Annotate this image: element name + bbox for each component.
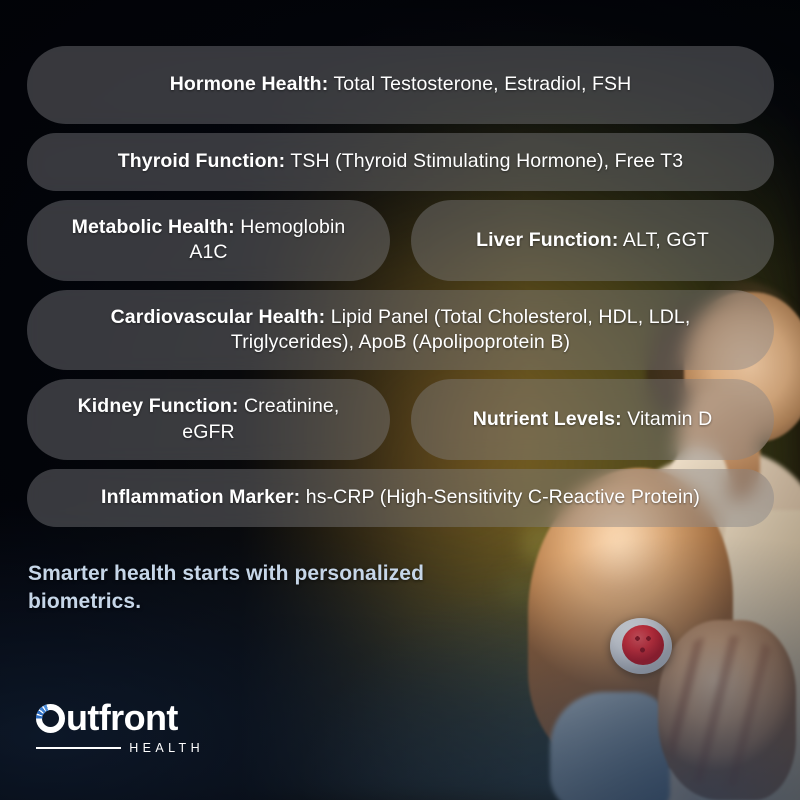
tagline: Smarter health starts with personalized …: [28, 560, 458, 616]
panel-pill-text: Inflammation Marker: hs-CRP (High-Sensit…: [101, 485, 700, 510]
promo-poster: Hormone Health: Total Testosterone, Estr…: [0, 0, 800, 800]
panel-pill-text: Hormone Health: Total Testosterone, Estr…: [170, 72, 632, 97]
panel-pill-text: Metabolic Health: Hemoglobin A1C: [61, 215, 356, 266]
panel-pill-thyroid-function[interactable]: Thyroid Function: TSH (Thyroid Stimulati…: [27, 133, 774, 191]
panel-category: Nutrient Levels:: [473, 408, 622, 430]
panel-category: Cardiovascular Health:: [111, 306, 326, 328]
brand-logo[interactable]: utfront HEALTH: [36, 700, 204, 755]
panel-pill-liver-function[interactable]: Liver Function: ALT, GGT: [411, 200, 774, 281]
panel-detail: TSH (Thyroid Stimulating Hormone), Free …: [285, 150, 683, 172]
panel-category: Thyroid Function:: [118, 150, 285, 172]
panel-pill-text: Liver Function: ALT, GGT: [476, 228, 709, 253]
panel-category: Liver Function:: [476, 229, 618, 251]
logo-divider-rule: [36, 747, 121, 749]
biomarker-panel-list: Hormone Health: Total Testosterone, Estr…: [27, 46, 774, 527]
panel-pill-row-split: Kidney Function: Creatinine, eGFR Nutrie…: [27, 379, 774, 460]
ring-blue-segments: [34, 702, 66, 734]
panel-pill-metabolic-health[interactable]: Metabolic Health: Hemoglobin A1C: [27, 200, 390, 281]
panel-category: Metabolic Health:: [72, 216, 235, 238]
panel-detail: hs-CRP (High-Sensitivity C-Reactive Prot…: [300, 486, 700, 508]
panel-pill-nutrient-levels[interactable]: Nutrient Levels: Vitamin D: [411, 379, 774, 460]
logo-subtitle-row: HEALTH: [36, 741, 204, 755]
panel-pill-inflammation-marker[interactable]: Inflammation Marker: hs-CRP (High-Sensit…: [27, 469, 774, 527]
panel-pill-text: Nutrient Levels: Vitamin D: [473, 407, 713, 432]
panel-detail: ALT, GGT: [618, 229, 708, 251]
panel-category: Hormone Health:: [170, 73, 329, 95]
logo-wordmark-text: utfront: [66, 700, 178, 736]
panel-category: Kidney Function:: [78, 395, 239, 417]
panel-pill-text: Thyroid Function: TSH (Thyroid Stimulati…: [118, 149, 683, 174]
panel-detail: Total Testosterone, Estradiol, FSH: [328, 73, 631, 95]
panel-pill-row-split: Metabolic Health: Hemoglobin A1C Liver F…: [27, 200, 774, 281]
outfront-ring-o-icon: [36, 704, 65, 733]
panel-pill-text: Cardiovascular Health: Lipid Panel (Tota…: [61, 305, 740, 356]
panel-pill-text: Kidney Function: Creatinine, eGFR: [61, 394, 356, 445]
logo-wordmark: utfront: [36, 700, 204, 736]
panel-pill-kidney-function[interactable]: Kidney Function: Creatinine, eGFR: [27, 379, 390, 460]
panel-pill-cardiovascular-health[interactable]: Cardiovascular Health: Lipid Panel (Tota…: [27, 290, 774, 371]
logo-subtitle-text: HEALTH: [129, 741, 204, 755]
panel-pill-hormone-health[interactable]: Hormone Health: Total Testosterone, Estr…: [27, 46, 774, 124]
panel-detail: Vitamin D: [622, 408, 713, 430]
panel-category: Inflammation Marker:: [101, 486, 300, 508]
